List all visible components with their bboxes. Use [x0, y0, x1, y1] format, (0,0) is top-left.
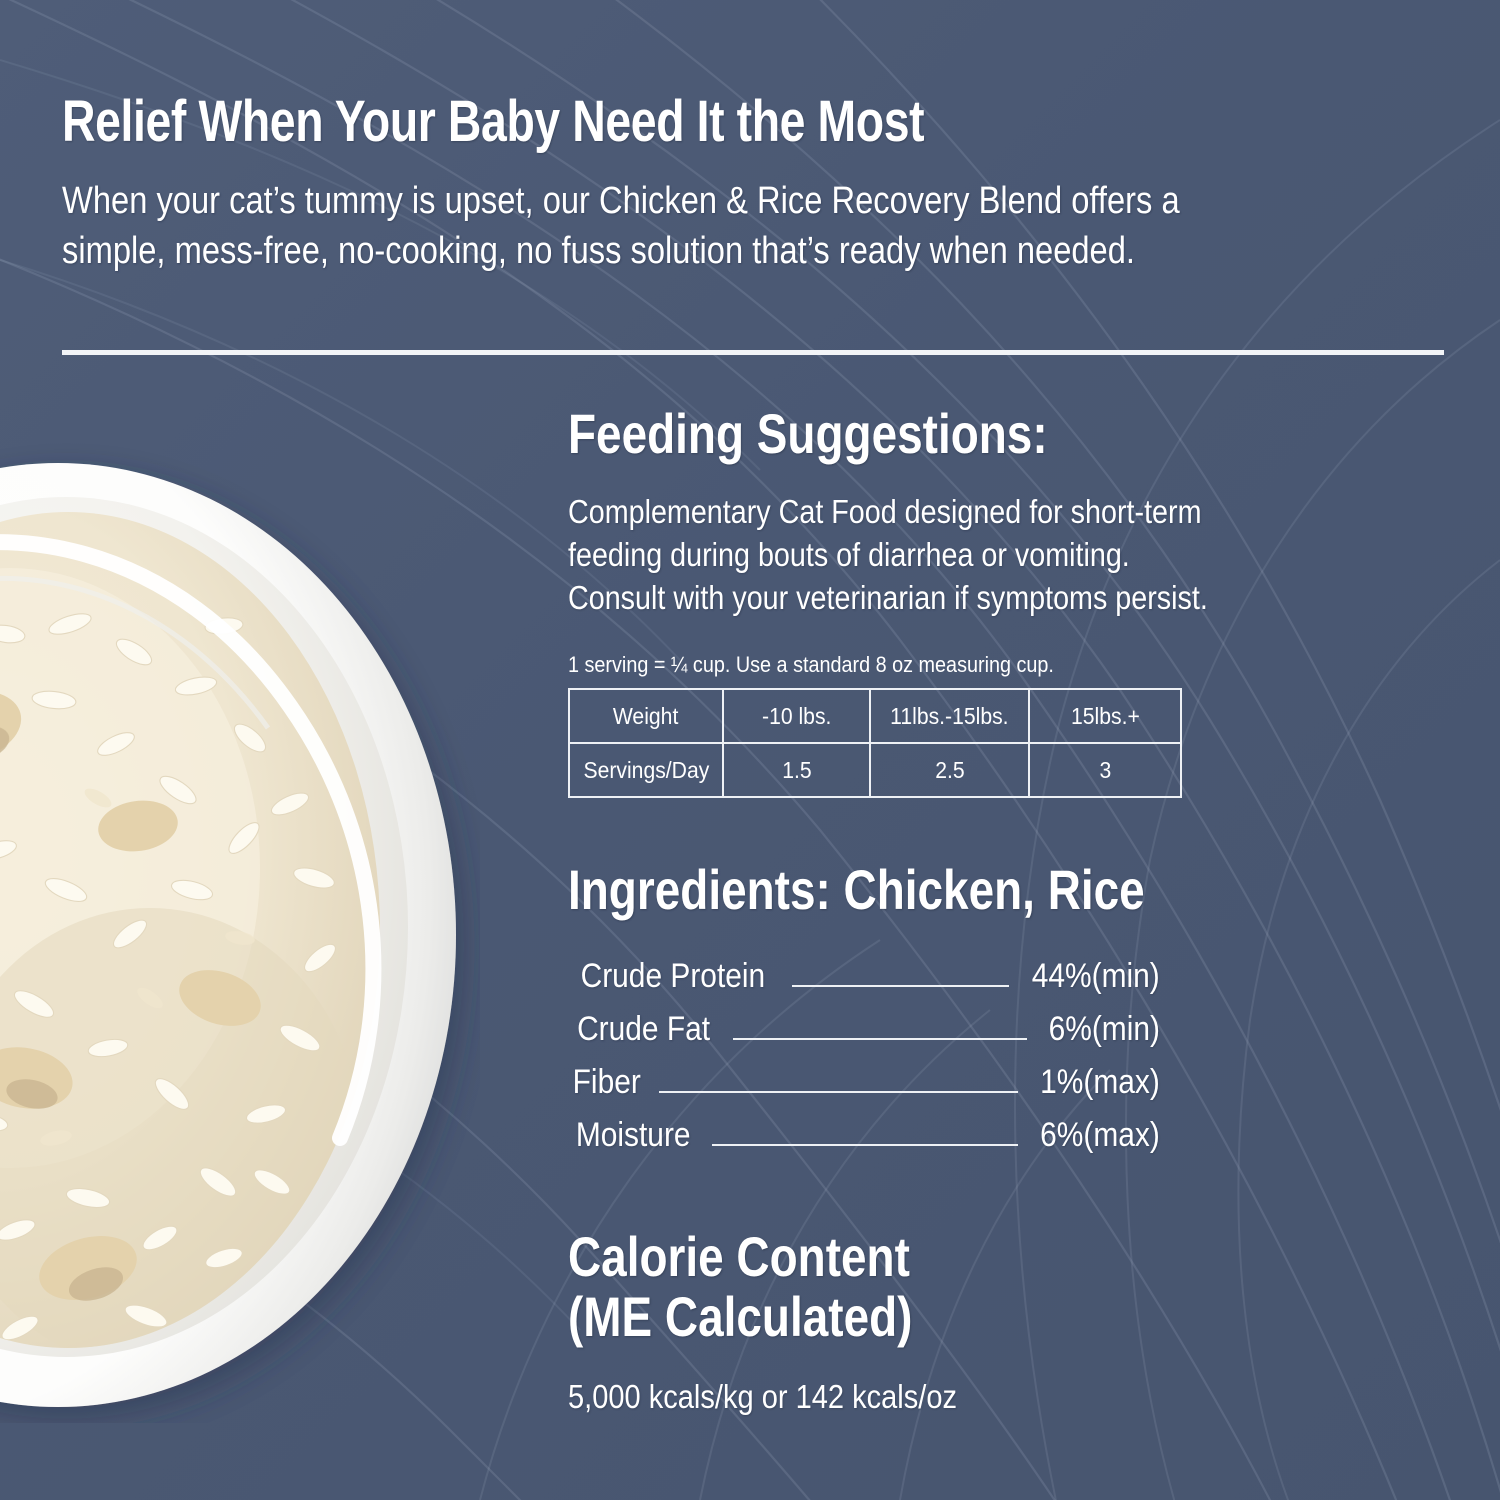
table-cell-servings-label: Servings/Day — [569, 743, 723, 797]
table-row-servings: Servings/Day 1.5 2.5 3 — [569, 743, 1181, 797]
analysis-label: Fiber — [573, 1063, 641, 1102]
page-subtitle: When your cat’s tummy is upset, our Chic… — [62, 177, 1404, 276]
analysis-value: 6%(max) — [1040, 1116, 1160, 1155]
table-cell-servings-medium: 2.5 — [870, 743, 1029, 797]
feeding-body-line-3: Consult with your veterinarian if sympto… — [568, 577, 1399, 620]
table-cell-weight-small: -10 lbs. — [723, 689, 870, 743]
feeding-suggestions-body: Complementary Cat Food designed for shor… — [568, 491, 1399, 620]
ingredients-heading: Ingredients: Chicken, Rice — [568, 860, 1249, 919]
table-cell-servings-small: 1.5 — [723, 743, 870, 797]
page-subtitle-line-2: simple, mess-free, no-cooking, no fuss s… — [62, 227, 1404, 276]
serving-size-note: 1 serving = ¼ cup. Use a standard 8 oz m… — [568, 652, 1189, 678]
analysis-label: Crude Fat — [577, 1010, 710, 1049]
analysis-label: Moisture — [576, 1116, 691, 1155]
analysis-value: 44%(min) — [1031, 957, 1159, 996]
calorie-heading-line-1: Calorie Content — [568, 1227, 1249, 1286]
table-cell-weight-medium: 11lbs.-15lbs. — [870, 689, 1029, 743]
feeding-body-line-1: Complementary Cat Food designed for shor… — [568, 491, 1399, 534]
calorie-heading-line-2: (ME Calculated) — [568, 1287, 1249, 1346]
info-column: Feeding Suggestions: Complementary Cat F… — [568, 404, 1398, 1416]
table-cell-weight-large: 15lbs.+ — [1029, 689, 1181, 743]
table-cell-weight-label: Weight — [569, 689, 723, 743]
analysis-row-fiber: Fiber 1%(max) — [568, 1063, 1168, 1116]
guaranteed-analysis-list: Crude Protein 44%(min) Crude Fat 6%(min)… — [568, 957, 1168, 1169]
feeding-suggestions-heading: Feeding Suggestions: — [568, 404, 1249, 463]
leader-line — [712, 1143, 1018, 1146]
analysis-label: Crude Protein — [581, 957, 766, 996]
analysis-row-moisture: Moisture 6%(max) — [568, 1116, 1168, 1169]
leader-line — [659, 1090, 1018, 1093]
header-divider-rule — [62, 350, 1444, 355]
analysis-row-crude-fat: Crude Fat 6%(min) — [568, 1010, 1168, 1063]
page-title: Relief When Your Baby Need It the Most — [62, 92, 1168, 151]
feeding-body-line-2: feeding during bouts of diarrhea or vomi… — [568, 534, 1399, 577]
product-infographic: Relief When Your Baby Need It the Most W… — [0, 0, 1500, 1500]
analysis-row-crude-protein: Crude Protein 44%(min) — [568, 957, 1168, 1010]
table-row-weight: Weight -10 lbs. 11lbs.-15lbs. 15lbs.+ — [569, 689, 1181, 743]
calorie-content-value: 5,000 kcals/kg or 142 kcals/oz — [568, 1378, 1298, 1416]
analysis-value: 6%(min) — [1049, 1010, 1160, 1049]
leader-line — [792, 984, 1009, 987]
calorie-content-heading: Calorie Content (ME Calculated) — [568, 1227, 1249, 1346]
feeding-chart-table: Weight -10 lbs. 11lbs.-15lbs. 15lbs.+ Se… — [568, 688, 1182, 798]
page-subtitle-line-1: When your cat’s tummy is upset, our Chic… — [62, 177, 1404, 226]
header-block: Relief When Your Baby Need It the Most W… — [62, 92, 1444, 276]
food-bowl-photo — [0, 438, 480, 1423]
leader-line — [733, 1037, 1027, 1040]
analysis-value: 1%(max) — [1040, 1063, 1160, 1102]
table-cell-servings-large: 3 — [1029, 743, 1181, 797]
